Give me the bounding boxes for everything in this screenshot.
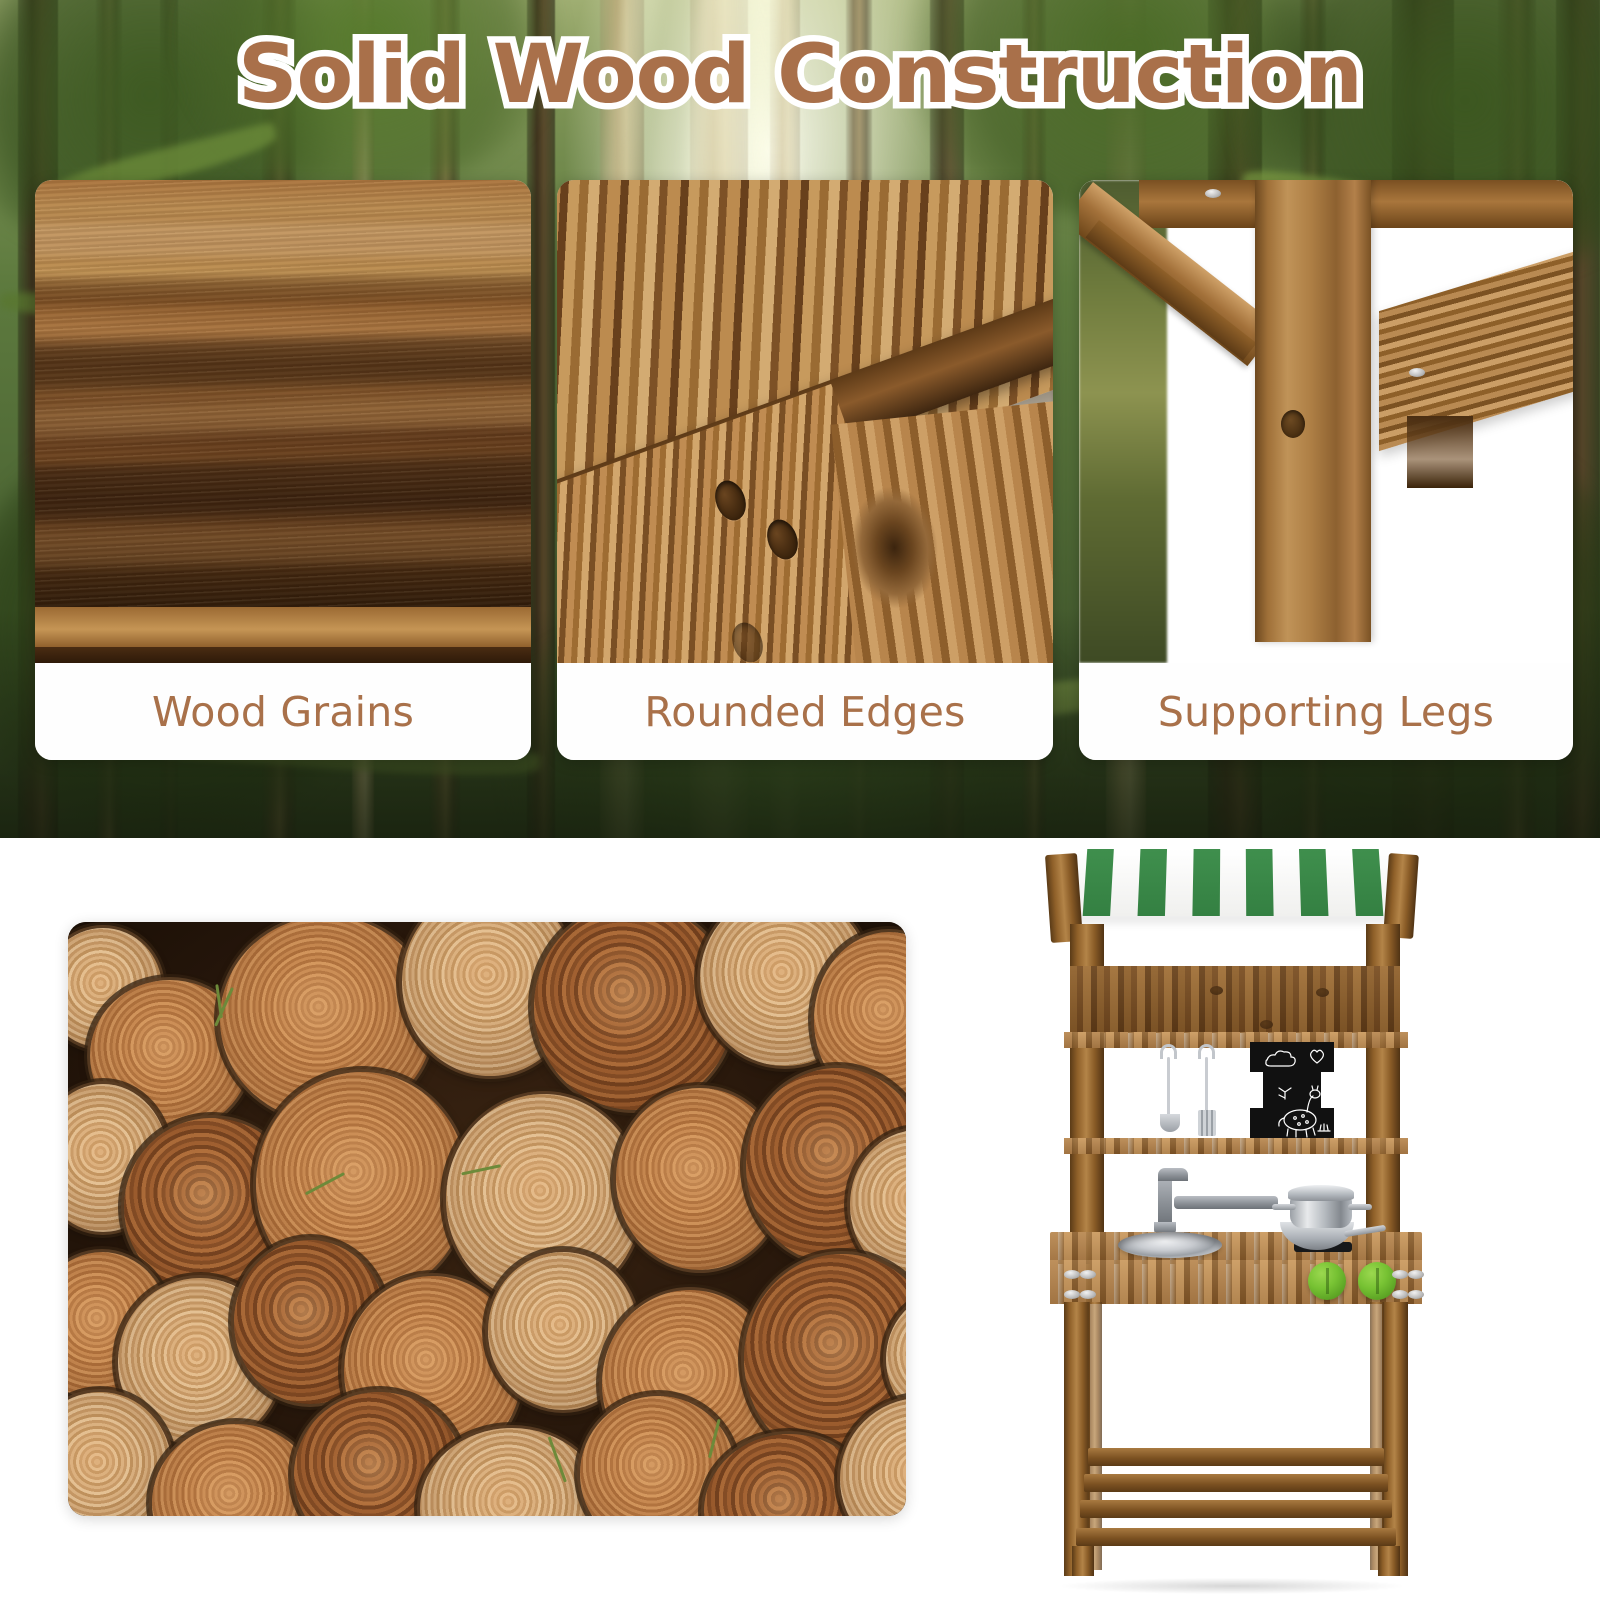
feature-card-row: Wood Grains Rounded Edges [35, 180, 1573, 760]
feature-card-wood-grains[interactable]: Wood Grains [35, 180, 531, 760]
log-stack-photo [68, 922, 906, 1516]
lower-shelf [1064, 1138, 1408, 1154]
page-title: Solid Wood Construction [238, 34, 1362, 117]
product-shadow [1062, 1578, 1402, 1594]
pot-lid [1288, 1185, 1354, 1201]
wood-grain-board-photo [35, 180, 531, 663]
chalkboard-panel[interactable] [1250, 1042, 1334, 1138]
hanging-spatula [1198, 1110, 1216, 1136]
product-feature-poster: Solid Wood Construction Wood Grai [0, 0, 1600, 1600]
middle-shelf [1064, 1032, 1408, 1048]
green-knob-right[interactable] [1358, 1262, 1396, 1300]
hanging-ladle [1160, 1114, 1180, 1132]
rounded-corner-photo [557, 180, 1053, 663]
chalk-drawings [1250, 1042, 1334, 1138]
feature-caption-wood-grains: Wood Grains [35, 663, 531, 760]
poster-title-wrapper: Solid Wood Construction [0, 34, 1600, 117]
stainless-sink-basin [1118, 1232, 1222, 1258]
pot-handle-left [1272, 1204, 1296, 1210]
feature-caption-rounded-edges: Rounded Edges [557, 663, 1053, 760]
green-knob-left[interactable] [1308, 1262, 1346, 1300]
feature-card-rounded-edges[interactable]: Rounded Edges [557, 180, 1053, 760]
feature-caption-supporting-legs: Supporting Legs [1079, 663, 1573, 760]
top-forest-section: Solid Wood Construction Wood Grai [0, 0, 1600, 838]
supporting-leg-photo [1079, 180, 1573, 663]
green-white-striped-awning [1058, 848, 1408, 948]
shelf-foot-left [1072, 1546, 1094, 1576]
pot-handle-right [1348, 1204, 1372, 1210]
bottom-product-section [0, 838, 1600, 1600]
feature-card-supporting-legs[interactable]: Supporting Legs [1079, 180, 1573, 760]
shelf-foot-right [1378, 1546, 1400, 1576]
wooden-play-kitchen[interactable] [1022, 828, 1442, 1600]
wooden-backboard [1070, 966, 1400, 1033]
